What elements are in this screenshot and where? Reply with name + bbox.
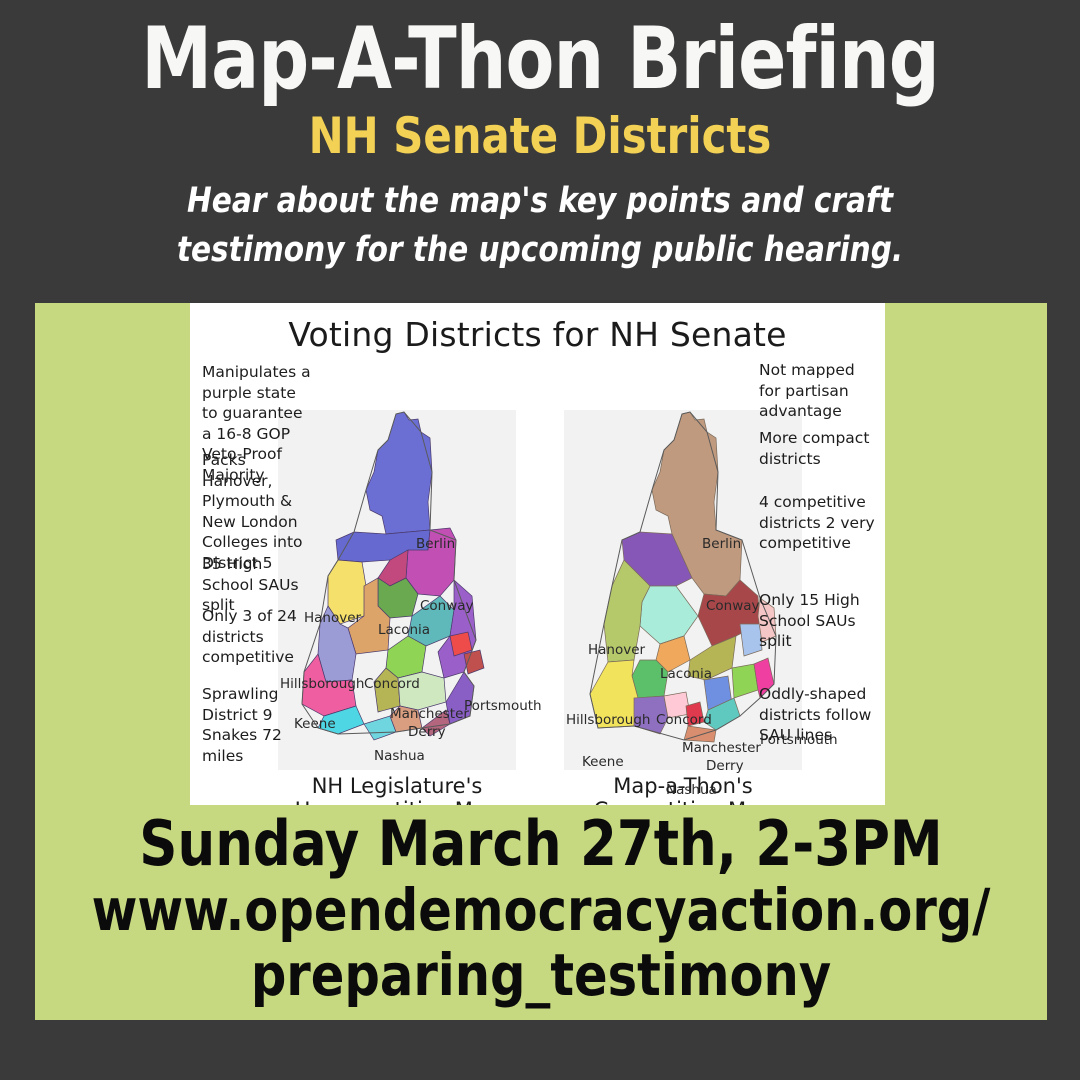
- city-label-derry-b: Derry: [706, 758, 744, 774]
- city-label-nashua: Nashua: [374, 748, 425, 764]
- city-label-portsmouth: Portsmouth: [464, 698, 542, 714]
- right-note-1: Not mapped for partisan advantage: [759, 360, 879, 422]
- event-url-line-1[interactable]: www.opendemocracyaction.org/: [60, 878, 1021, 943]
- right-note-2: More compact districts: [759, 428, 879, 469]
- city-label-manchester: Manchester: [390, 706, 469, 722]
- city-label-hillsborough-b: Hillsborough: [566, 712, 650, 728]
- city-label-concord-b: Concord: [656, 712, 712, 728]
- city-label-concord: Concord: [364, 676, 420, 692]
- city-label-laconia: Laconia: [378, 622, 430, 638]
- city-label-derry: Derry: [408, 724, 446, 740]
- page-tagline: Hear about the map's key points and craf…: [32, 177, 1047, 276]
- page-title: Map-A-Thon Briefing: [43, 0, 1037, 102]
- right-note-3: 4 competitive districts 2 very competiti…: [759, 492, 879, 554]
- poster-footer: Sunday March 27th, 2-3PM www.opendemocra…: [60, 811, 1021, 1008]
- left-note-5: Sprawling District 9 Snakes 72 miles: [202, 684, 314, 766]
- city-label-berlin: Berlin: [416, 536, 455, 552]
- map-figure-title: Voting Districts for NH Senate: [190, 303, 885, 354]
- city-label-hanover-b: Hanover: [588, 642, 645, 658]
- city-label-keene-b: Keene: [582, 754, 624, 770]
- city-label-conway: Conway: [420, 598, 474, 614]
- left-note-4: Only 3 of 24 districts competitive: [202, 606, 314, 668]
- right-note-4: Only 15 High School SAUs split: [759, 590, 879, 652]
- event-date: Sunday March 27th, 2-3PM: [60, 811, 1021, 878]
- poster-header: Map-A-Thon Briefing NH Senate Districts …: [0, 0, 1080, 276]
- maps-row: Manipulates a purple state to guarantee …: [190, 354, 885, 794]
- city-label-manchester-b: Manchester: [682, 740, 761, 756]
- page-subtitle: NH Senate Districts: [38, 110, 1042, 163]
- right-note-5: Oddly-shaped districts follow SAU lines: [759, 684, 879, 746]
- city-label-conway-b: Conway: [706, 598, 760, 614]
- map-caption-uncompetitive: NH Legislature's Uncompetitive Map: [278, 774, 516, 805]
- city-label-nashua-b: Nashua: [666, 782, 717, 798]
- map-figure-panel: Voting Districts for NH Senate Manipulat…: [190, 303, 885, 805]
- city-label-laconia-b: Laconia: [660, 666, 712, 682]
- event-url-line-2[interactable]: preparing_testimony: [60, 943, 1021, 1008]
- city-label-berlin-b: Berlin: [702, 536, 741, 552]
- poster-root: Map-A-Thon Briefing NH Senate Districts …: [0, 0, 1080, 1080]
- content-card: Voting Districts for NH Senate Manipulat…: [35, 303, 1047, 1020]
